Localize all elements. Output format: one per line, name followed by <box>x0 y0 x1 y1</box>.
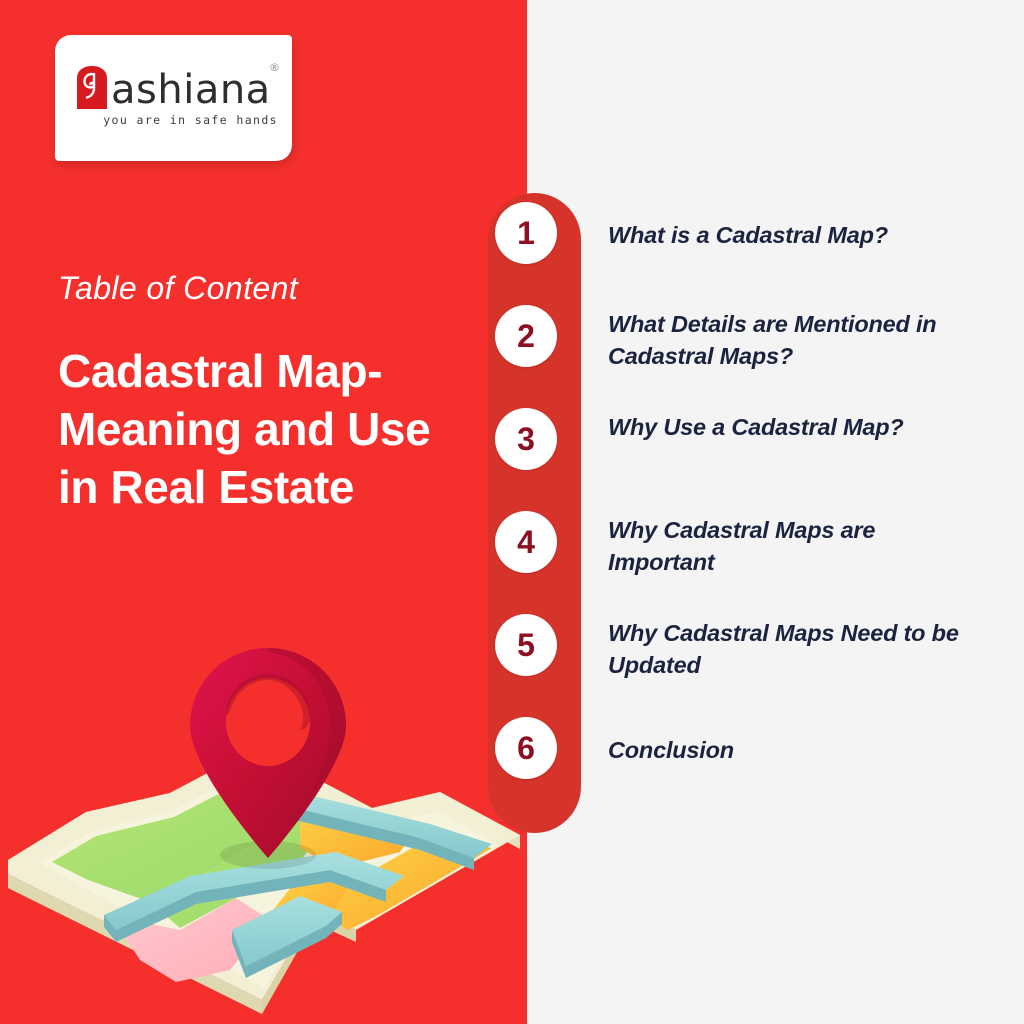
toc-number-badge-1: 1 <box>495 202 557 264</box>
toc-item-3[interactable]: 3 Why Use a Cadastral Map? <box>488 399 1024 502</box>
table-of-content-eyebrow: Table of Content <box>58 270 298 307</box>
registered-trademark-icon: ® <box>269 61 280 74</box>
toc-label-6[interactable]: Conclusion <box>608 734 988 766</box>
toc-item-2[interactable]: 2 What Details are Mentioned in Cadastra… <box>488 296 1024 399</box>
toc-label-3[interactable]: Why Use a Cadastral Map? <box>608 411 908 443</box>
toc-item-5[interactable]: 5 Why Cadastral Maps Need to be Updated <box>488 605 1024 708</box>
isometric-map-illustration <box>0 630 527 1024</box>
brand-logo-card: ® ashiana you are in safe hands <box>55 35 292 161</box>
toc-number-badge-4: 4 <box>495 511 557 573</box>
toc-number-badge-2: 2 <box>495 305 557 367</box>
toc-label-2[interactable]: What Details are Mentioned in Cadastral … <box>608 308 988 372</box>
toc-label-5[interactable]: Why Cadastral Maps Need to be Updated <box>608 617 988 681</box>
brand-wordmark: ashiana <box>111 71 271 109</box>
toc-label-4[interactable]: Why Cadastral Maps are Important <box>608 514 958 578</box>
brand-logo: ® ashiana you are in safe hands <box>75 61 280 137</box>
ashiana-house-a-icon <box>75 66 109 109</box>
toc-label-1[interactable]: What is a Cadastral Map? <box>608 219 988 251</box>
toc-number-badge-5: 5 <box>495 614 557 676</box>
toc-number-badge-3: 3 <box>495 408 557 470</box>
toc-item-4[interactable]: 4 Why Cadastral Maps are Important <box>488 502 1024 605</box>
toc-item-1[interactable]: 1 What is a Cadastral Map? <box>488 193 1024 296</box>
toc-item-6[interactable]: 6 Conclusion <box>488 708 1024 811</box>
toc-number-badge-6: 6 <box>495 717 557 779</box>
toc-list: 1 What is a Cadastral Map? 2 What Detail… <box>488 193 1024 833</box>
poster-root: ® ashiana you are in safe hands Table of… <box>0 0 1024 1024</box>
brand-tagline: you are in safe hands <box>75 113 280 127</box>
page-title: Cadastral Map- Meaning and Use in Real E… <box>58 342 458 516</box>
left-red-panel: ® ashiana you are in safe hands Table of… <box>0 0 527 1024</box>
